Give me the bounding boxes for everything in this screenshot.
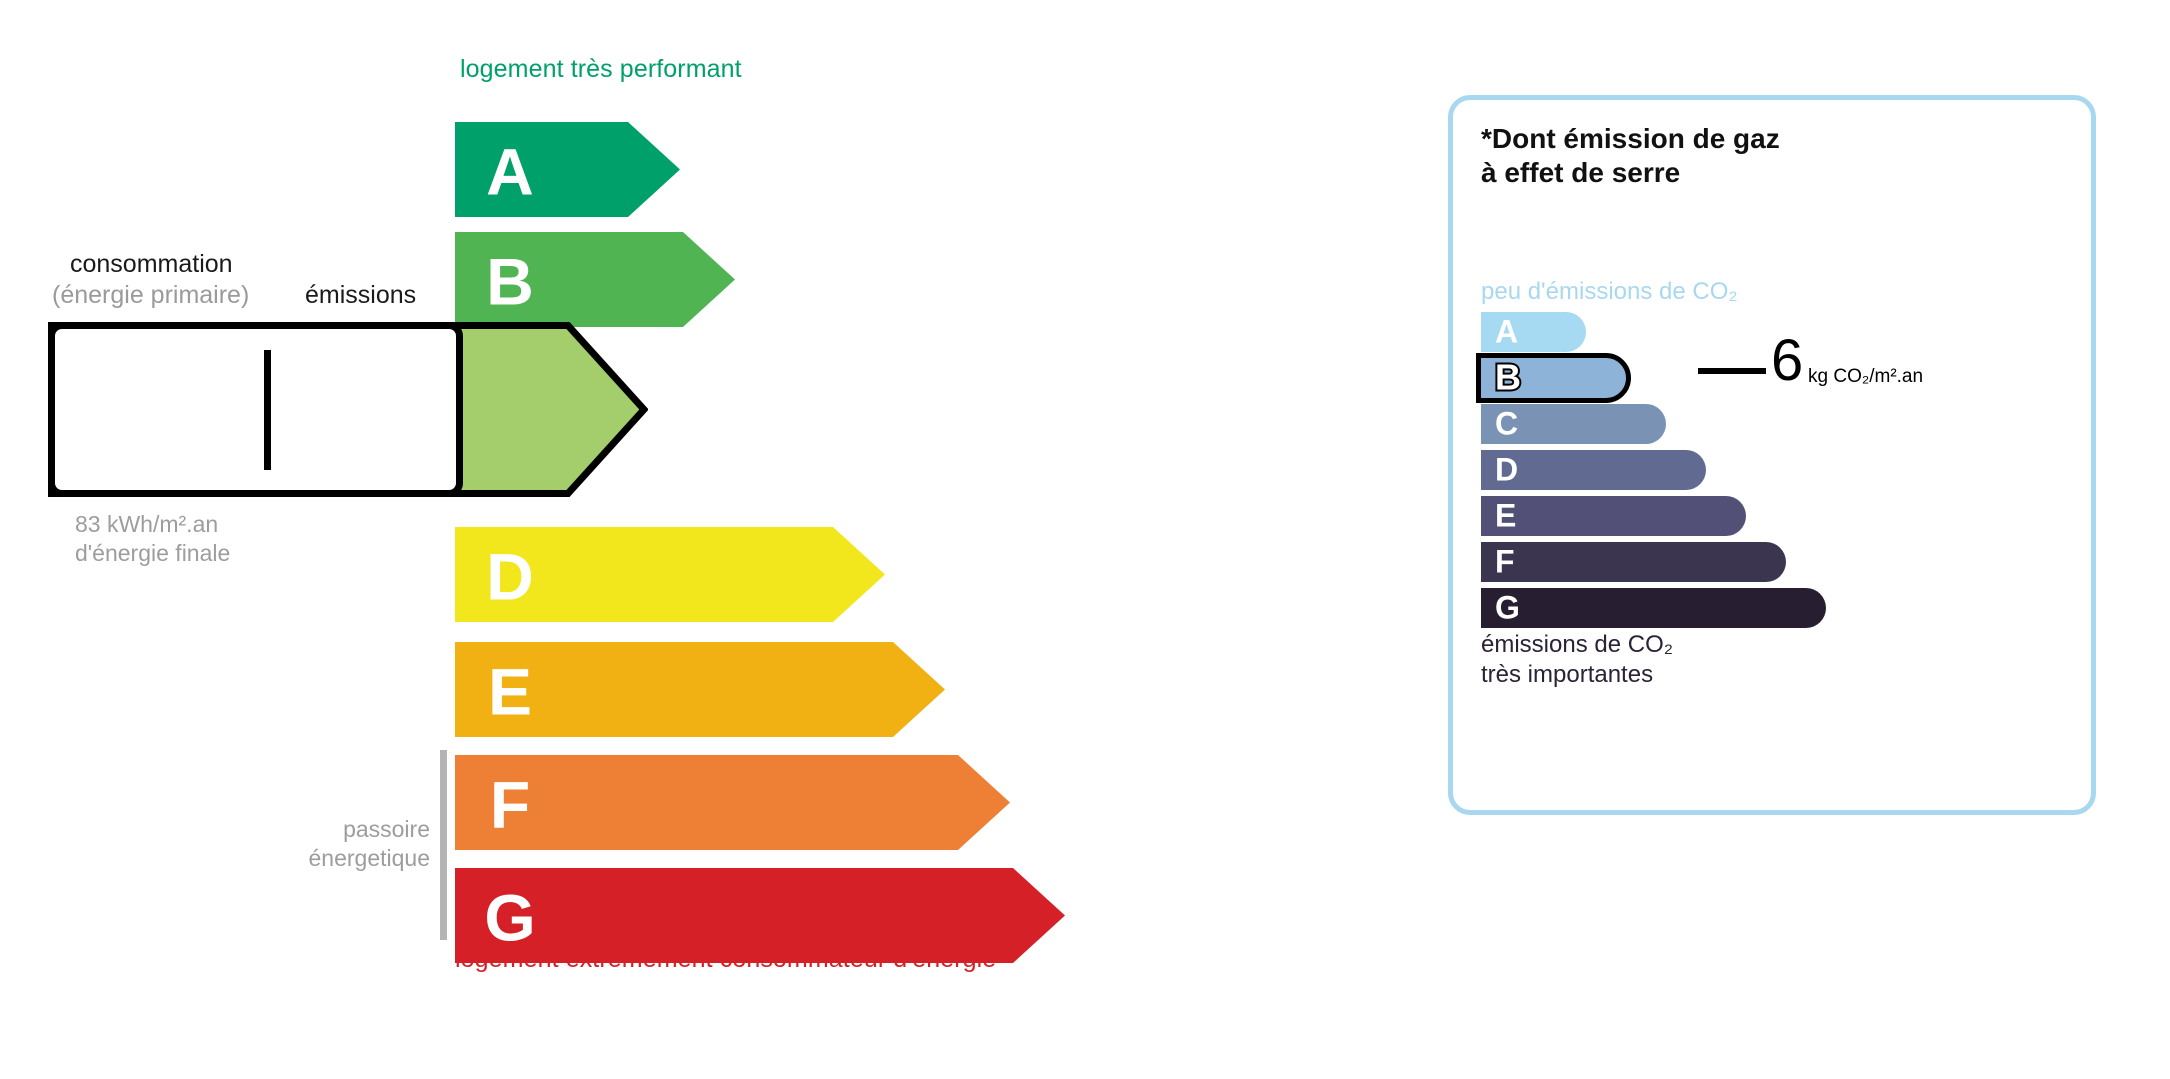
class-e-letter: E xyxy=(488,655,532,729)
co2-bottom-label: émissions de CO₂ très importantes xyxy=(1481,630,1673,690)
class-row-a: A xyxy=(455,122,680,217)
co2-selected-value: 6 xyxy=(1771,332,1803,390)
co2-panel: *Dont émission de gaz à effet de serre p… xyxy=(1448,95,2096,815)
passoire-line1: passoire xyxy=(270,815,430,844)
co2-bottom-line1: émissions de CO₂ xyxy=(1481,630,1673,660)
co2-letter-a: A xyxy=(1495,315,1518,347)
co2-top-label: peu d'émissions de CO₂ xyxy=(1481,278,1738,306)
class-d-arrow-shape: D xyxy=(455,527,885,622)
class-e-arrow-shape: E xyxy=(455,642,945,737)
final-energy-line1: 83 kWh/m².an xyxy=(75,510,230,539)
co2-row-f: F xyxy=(1481,542,1786,582)
co2-letter-d: D xyxy=(1495,453,1518,485)
class-b-letter: B xyxy=(486,245,534,319)
class-f-arrow-polygon xyxy=(455,755,1010,850)
class-b-arrow-shape: B xyxy=(455,232,735,327)
co2-letter-f: F xyxy=(1495,545,1515,577)
co2-letter-b: B xyxy=(1495,359,1521,395)
co2-title-line1: *Dont émission de gaz xyxy=(1481,122,1780,156)
co2-title-line2: à effet de serre xyxy=(1481,156,1780,190)
passoire-indicator-bar xyxy=(440,750,447,940)
co2-row-g: G xyxy=(1481,588,1826,628)
class-row-e: E xyxy=(455,642,945,737)
co2-letter-g: G xyxy=(1495,591,1520,623)
class-row-d: D xyxy=(455,527,885,622)
co2-letter-e: E xyxy=(1495,499,1516,531)
class-g-letter: G xyxy=(484,881,535,955)
scale-top-caption: logement très performant xyxy=(460,55,742,84)
scale-bottom-caption: logement extrêmement consommateur d'éner… xyxy=(455,945,996,974)
class-d-letter: D xyxy=(486,540,534,614)
class-f-letter: F xyxy=(490,768,530,842)
class-a-letter: A xyxy=(486,135,534,209)
co2-row-a: A xyxy=(1481,312,1586,352)
energy-performance-scale: logement très performant consommation (é… xyxy=(0,0,1300,1079)
class-a-arrow-shape: A xyxy=(455,122,680,217)
co2-leader-line xyxy=(1698,368,1766,374)
co2-row-b: B xyxy=(1476,353,1631,403)
header-emissions: émissions xyxy=(305,281,416,310)
class-f-arrow-shape: F xyxy=(455,755,1010,850)
co2-row-e: E xyxy=(1481,496,1746,536)
co2-selected-unit: kg CO₂/m².an xyxy=(1808,366,1923,388)
co2-panel-title: *Dont émission de gaz à effet de serre xyxy=(1481,122,1780,190)
final-energy-note: 83 kWh/m².an d'énergie finale xyxy=(75,510,230,568)
header-consumption-subtitle: (énergie primaire) xyxy=(52,281,249,310)
class-row-b: B xyxy=(455,232,735,327)
co2-row-c: C xyxy=(1481,404,1666,444)
header-consumption: consommation xyxy=(70,250,233,279)
passoire-label: passoire énergetique xyxy=(270,815,430,873)
co2-row-d: D xyxy=(1481,450,1706,490)
value-box-divider xyxy=(264,350,271,470)
final-energy-line2: d'énergie finale xyxy=(75,539,230,568)
value-box xyxy=(48,322,463,497)
co2-letter-c: C xyxy=(1495,407,1518,439)
class-row-f: F xyxy=(455,755,1010,850)
passoire-line2: énergetique xyxy=(270,844,430,873)
co2-bottom-line2: très importantes xyxy=(1481,660,1673,690)
